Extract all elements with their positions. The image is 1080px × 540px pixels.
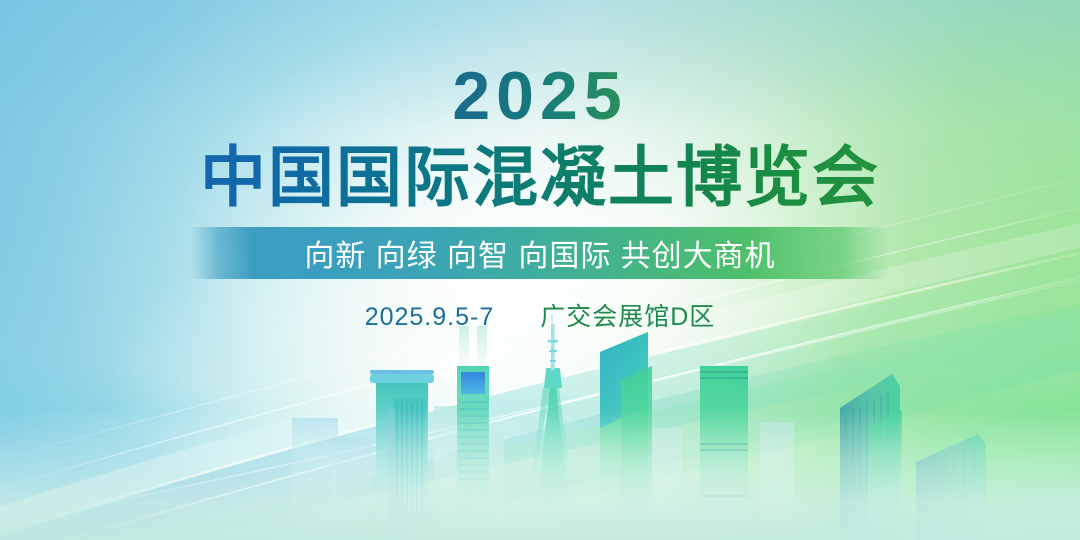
event-venue: 广交会展馆D区 bbox=[540, 297, 715, 333]
slogan-banner: 向新 向绿 向智 向国际 共创大商机 bbox=[190, 227, 890, 279]
slogan-text: 向新 向绿 向智 向国际 共创大商机 bbox=[304, 231, 775, 275]
event-poster: 2025 中国国际混凝土博览会 向新 向绿 向智 向国际 共创大商机 2025.… bbox=[0, 0, 1080, 540]
event-meta: 2025.9.5-7 广交会展馆D区 bbox=[365, 297, 716, 333]
event-year: 2025 bbox=[452, 62, 627, 130]
poster-content: 2025 中国国际混凝土博览会 向新 向绿 向智 向国际 共创大商机 2025.… bbox=[0, 0, 1080, 540]
event-date: 2025.9.5-7 bbox=[365, 303, 495, 332]
page-title: 中国国际混凝土博览会 bbox=[200, 142, 880, 213]
